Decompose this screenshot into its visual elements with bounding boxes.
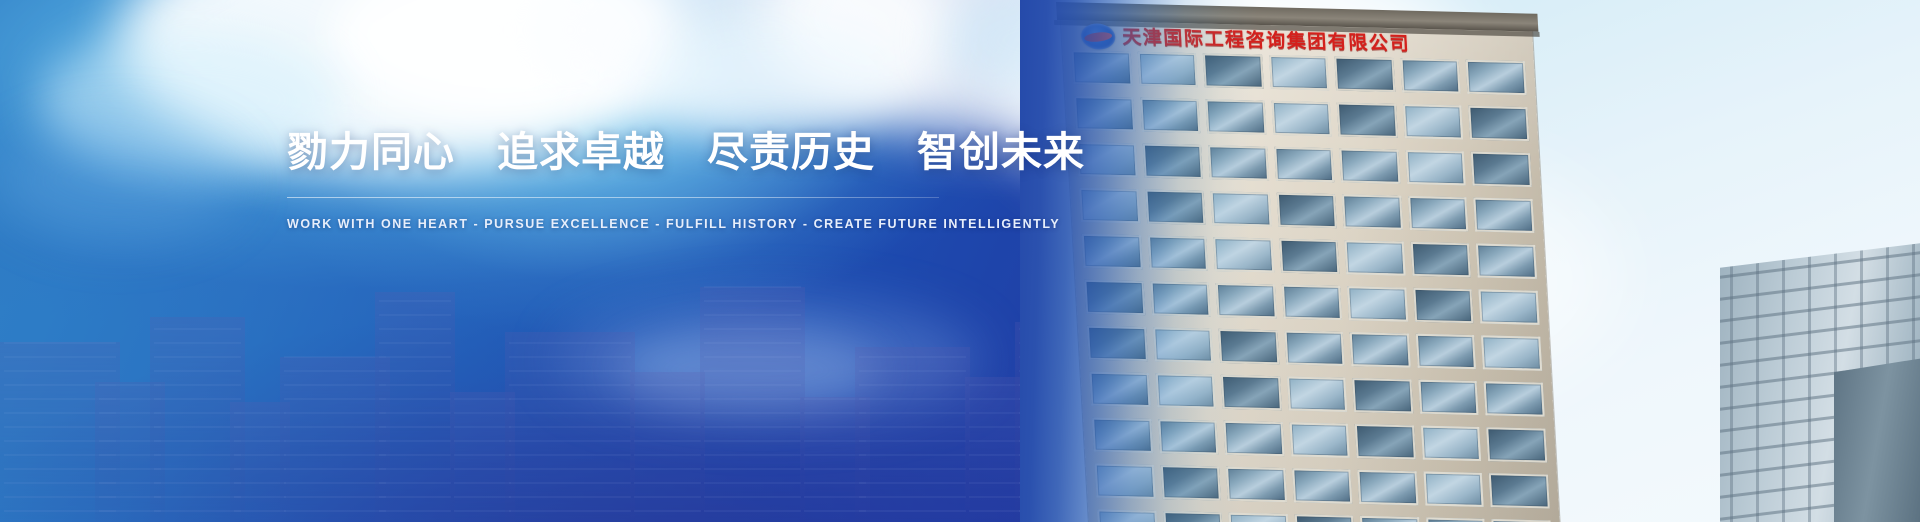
banner-text-block: 勠力同心 追求卓越 尽责历史 智创未来 WORK WITH ONE HEART … [287,132,947,231]
skyline-floor-line [284,412,386,414]
skyline-floor-line [379,300,451,302]
skyline-floor-line [154,454,241,456]
window-pane [1211,191,1272,226]
skyline-floor-line [234,482,286,484]
annex-shadow-block [1834,357,1920,522]
skyline-floor-line [4,342,116,344]
skyline-floor-line [509,496,631,498]
window-pane [1360,516,1421,522]
skyline-floor-line [454,482,511,484]
skyline-floor-line [234,454,286,456]
window-pane [1142,144,1203,179]
skyline-floor-line [379,426,451,428]
skyline-floor-line [969,482,1021,484]
window-pane [1271,101,1332,136]
skyline-floor-line [284,356,386,358]
window-pane [1345,240,1406,275]
window-pane [1358,470,1419,505]
window-pane [1479,289,1540,324]
window-pane [1471,152,1532,187]
skyline-floor-line [379,342,451,344]
skyline-floor-line [284,496,386,498]
skyline-floor-line [284,440,386,442]
skyline-floor-line [634,426,701,428]
banner-headline: 勠力同心 追求卓越 尽责历史 智创未来 [287,132,947,173]
window-pane [1150,281,1211,316]
skyline-floor-line [4,356,116,358]
window-pane [1092,418,1153,453]
skyline-floor-line [379,510,451,512]
skyline-floor-line [154,342,241,344]
skyline-floor-line [379,370,451,372]
skyline-floor-line [704,356,801,358]
window-pane [1218,329,1279,364]
skyline-floor-line [704,440,801,442]
skyline-floor-line [379,454,451,456]
skyline-floor-line [509,426,631,428]
window-pane [1284,331,1345,366]
window-pane [1097,509,1158,522]
window-pane [1226,467,1287,502]
skyline-floor-line [634,412,701,414]
window-pane [1208,145,1269,180]
skyline-floor-line [704,398,801,400]
window-pane [1421,426,1482,461]
window-pane [1474,198,1535,233]
skyline-floor-line [454,510,511,512]
skyline-floor-line [859,356,966,358]
annex-mullion [1756,263,1759,522]
window-row [1075,280,1548,325]
window-pane [1416,334,1477,369]
window-pane [1347,286,1408,321]
skyline-floor-line [379,412,451,414]
skyline-floor-line [379,328,451,330]
window-pane [1279,239,1340,274]
skyline-floor-line [509,440,631,442]
window-pane [1229,513,1290,522]
skyline-floor-line [509,412,631,414]
skyline-floor-line [379,398,451,400]
skyline-floor-line [634,398,701,400]
window-pane [1082,234,1143,269]
skyline-floor-line [154,468,241,470]
skyline-floor-line [509,454,631,456]
skyline-floor-line [234,468,286,470]
office-tower [1060,6,1563,522]
skyline-floor-line [509,356,631,358]
window-pane [1426,517,1487,522]
skyline-floor-line [454,454,511,456]
skyline-floor-line [284,426,386,428]
skyline-floor-line [454,496,511,498]
skyline-floor-line [154,356,241,358]
skyline-floor-line [234,440,286,442]
window-pane [1095,464,1156,499]
window-pane [1287,376,1348,411]
skyline-floor-line [154,370,241,372]
window-pane [1342,194,1403,229]
skyline-floor-line [154,482,241,484]
headline-divider [287,197,939,198]
window-pane [1484,381,1545,416]
skyline-building [700,287,805,522]
skyline-floor-line [704,412,801,414]
skyline-floor-line [4,370,116,372]
window-pane [1153,327,1214,362]
skyline-floor-line [859,384,966,386]
skyline-floor-line [704,510,801,512]
skyline-building [375,292,455,522]
skyline-floor-line [284,398,386,400]
banner-subtitle: WORK WITH ONE HEART - PURSUE EXCELLENCE … [287,217,947,231]
skyline-floor-line [634,468,701,470]
skyline-floor-line [859,510,966,512]
skyline-floor-line [454,468,511,470]
skyline-floor-line [704,314,801,316]
skyline-floor-line [454,412,511,414]
skyline-floor-line [154,384,241,386]
window-pane [1292,468,1353,503]
skyline-floor-line [379,356,451,358]
window-pane [1079,188,1140,223]
skyline-floor-line [704,482,801,484]
window-pane [1411,242,1472,277]
skyline-floor-line [154,426,241,428]
skyline-floor-line [509,342,631,344]
skyline-floor-line [969,412,1021,414]
window-pane [1350,332,1411,367]
window-row [1078,326,1551,371]
window-pane [1340,148,1401,183]
skyline-floor-line [154,440,241,442]
window-pane [1140,98,1201,133]
window-pane [1087,326,1148,361]
window-pane [1418,380,1479,415]
skyline-floor-line [704,300,801,302]
hero-banner: 天津国际工程咨询集团有限公司 勠力同心 追求卓越 尽责历史 智创未来 WORK … [0,0,1920,522]
skyline-floor-line [704,426,801,428]
window-pane [1084,280,1145,315]
annex-mullion [1782,260,1785,522]
window-pane [1221,375,1282,410]
skyline-floor-line [509,468,631,470]
skyline-floor-line [454,426,511,428]
window-row [1068,142,1541,187]
window-pane [1423,472,1484,507]
skyline-floor-line [969,398,1021,400]
window-pane [1276,193,1337,228]
skyline-floor-line [284,482,386,484]
skyline-floor-line [969,384,1021,386]
skyline-floor-line [859,440,966,442]
window-pane [1213,237,1274,272]
skyline-floor-line [284,384,386,386]
skyline-floor-line [284,510,386,512]
window-pane [1160,465,1221,500]
window-pane [1489,473,1550,508]
skyline-floor-line [704,496,801,498]
skyline-floor-line [234,496,286,498]
window-row [1080,371,1553,416]
skyline-floor-line [969,440,1021,442]
window-pane [1155,373,1216,408]
skyline-floor-line [859,398,966,400]
window-grid [1062,50,1562,522]
window-pane [1469,106,1530,141]
window-pane [1289,422,1350,457]
skyline-floor-line [379,314,451,316]
window-pane [1077,142,1138,177]
skyline-floor-line [859,426,966,428]
skyline-floor-line [154,412,241,414]
skyline-floor-line [859,482,966,484]
skyline-floor-line [704,468,801,470]
skyline-floor-line [634,482,701,484]
skyline-floor-line [379,496,451,498]
skyline-floor-line [859,454,966,456]
skyline-floor-line [969,454,1021,456]
skyline-floor-line [509,398,631,400]
annex-floor-line [1720,272,1920,301]
skyline-floor-line [284,370,386,372]
skyline-floor-line [154,510,241,512]
window-pane [1476,244,1537,279]
building-photograph: 天津国际工程咨询集团有限公司 [1020,0,1920,522]
skyline-floor-line [704,384,801,386]
skyline-floor-line [704,342,801,344]
building-sign-text: 天津国际工程咨询集团有限公司 [1122,28,1411,54]
window-row [1088,509,1561,522]
window-pane [1408,196,1469,231]
window-pane [1224,421,1285,456]
skyline-floor-line [379,482,451,484]
window-pane [1282,285,1343,320]
window-pane [1294,514,1355,522]
skyline-floor-line [634,440,701,442]
skyline-floor-line [859,468,966,470]
window-row [1065,96,1538,141]
window-pane [1148,235,1209,270]
skyline-floor-line [379,468,451,470]
skyline-floor-line [859,370,966,372]
skyline-floor-line [969,468,1021,470]
window-pane [1216,283,1277,318]
window-pane [1274,147,1335,182]
window-pane [1206,99,1267,134]
skyline-floor-line [454,440,511,442]
skyline-floor-line [234,510,286,512]
window-pane [1074,96,1135,131]
skyline-floor-line [859,496,966,498]
window-pane [1163,511,1224,522]
company-emblem-icon [1080,23,1116,50]
skyline-floor-line [509,370,631,372]
skyline-floor-line [234,426,286,428]
skyline-floor-line [969,496,1021,498]
annex-floor-line [1720,316,1920,345]
window-pane [1403,104,1464,139]
skyline-floor-line [234,412,286,414]
skyline-floor-line [379,384,451,386]
annex-mullion [1808,257,1811,522]
annex-floor-line [1720,294,1920,323]
skyline-floor-line [154,328,241,330]
window-row [1070,188,1543,233]
window-pane [1353,378,1414,413]
skyline-building [630,372,705,522]
skyline-floor-line [634,496,701,498]
skyline-floor-line [704,328,801,330]
skyline-floor-line [379,440,451,442]
skyline-floor-line [704,370,801,372]
window-pane [1089,372,1150,407]
skyline-floor-line [859,412,966,414]
skyline-floor-line [154,496,241,498]
window-pane [1158,419,1219,454]
skyline-floor-line [704,454,801,456]
skyline-floor-line [284,468,386,470]
skyline-floor-line [509,482,631,484]
window-pane [1405,150,1466,185]
skyline-floor-line [634,510,701,512]
window-pane [1482,335,1543,370]
skyline-floor-line [509,384,631,386]
skyline-floor-line [634,454,701,456]
annex-mullion [1730,266,1733,522]
skyline-floor-line [704,286,801,288]
window-pane [1487,427,1548,462]
skyline-floor-line [969,510,1021,512]
window-pane [1413,288,1474,323]
window-pane [1355,424,1416,459]
window-row [1073,234,1546,279]
skyline-floor-line [969,426,1021,428]
window-pane [1337,103,1398,138]
window-row [1083,417,1556,462]
window-row [1086,463,1559,508]
skyline-floor-line [634,384,701,386]
window-pane [1145,190,1206,225]
skyline-floor-line [154,398,241,400]
skyline-floor-line [454,398,511,400]
skyline-floor-line [284,454,386,456]
skyline-floor-line [509,510,631,512]
city-skyline-overlay [0,272,1100,522]
